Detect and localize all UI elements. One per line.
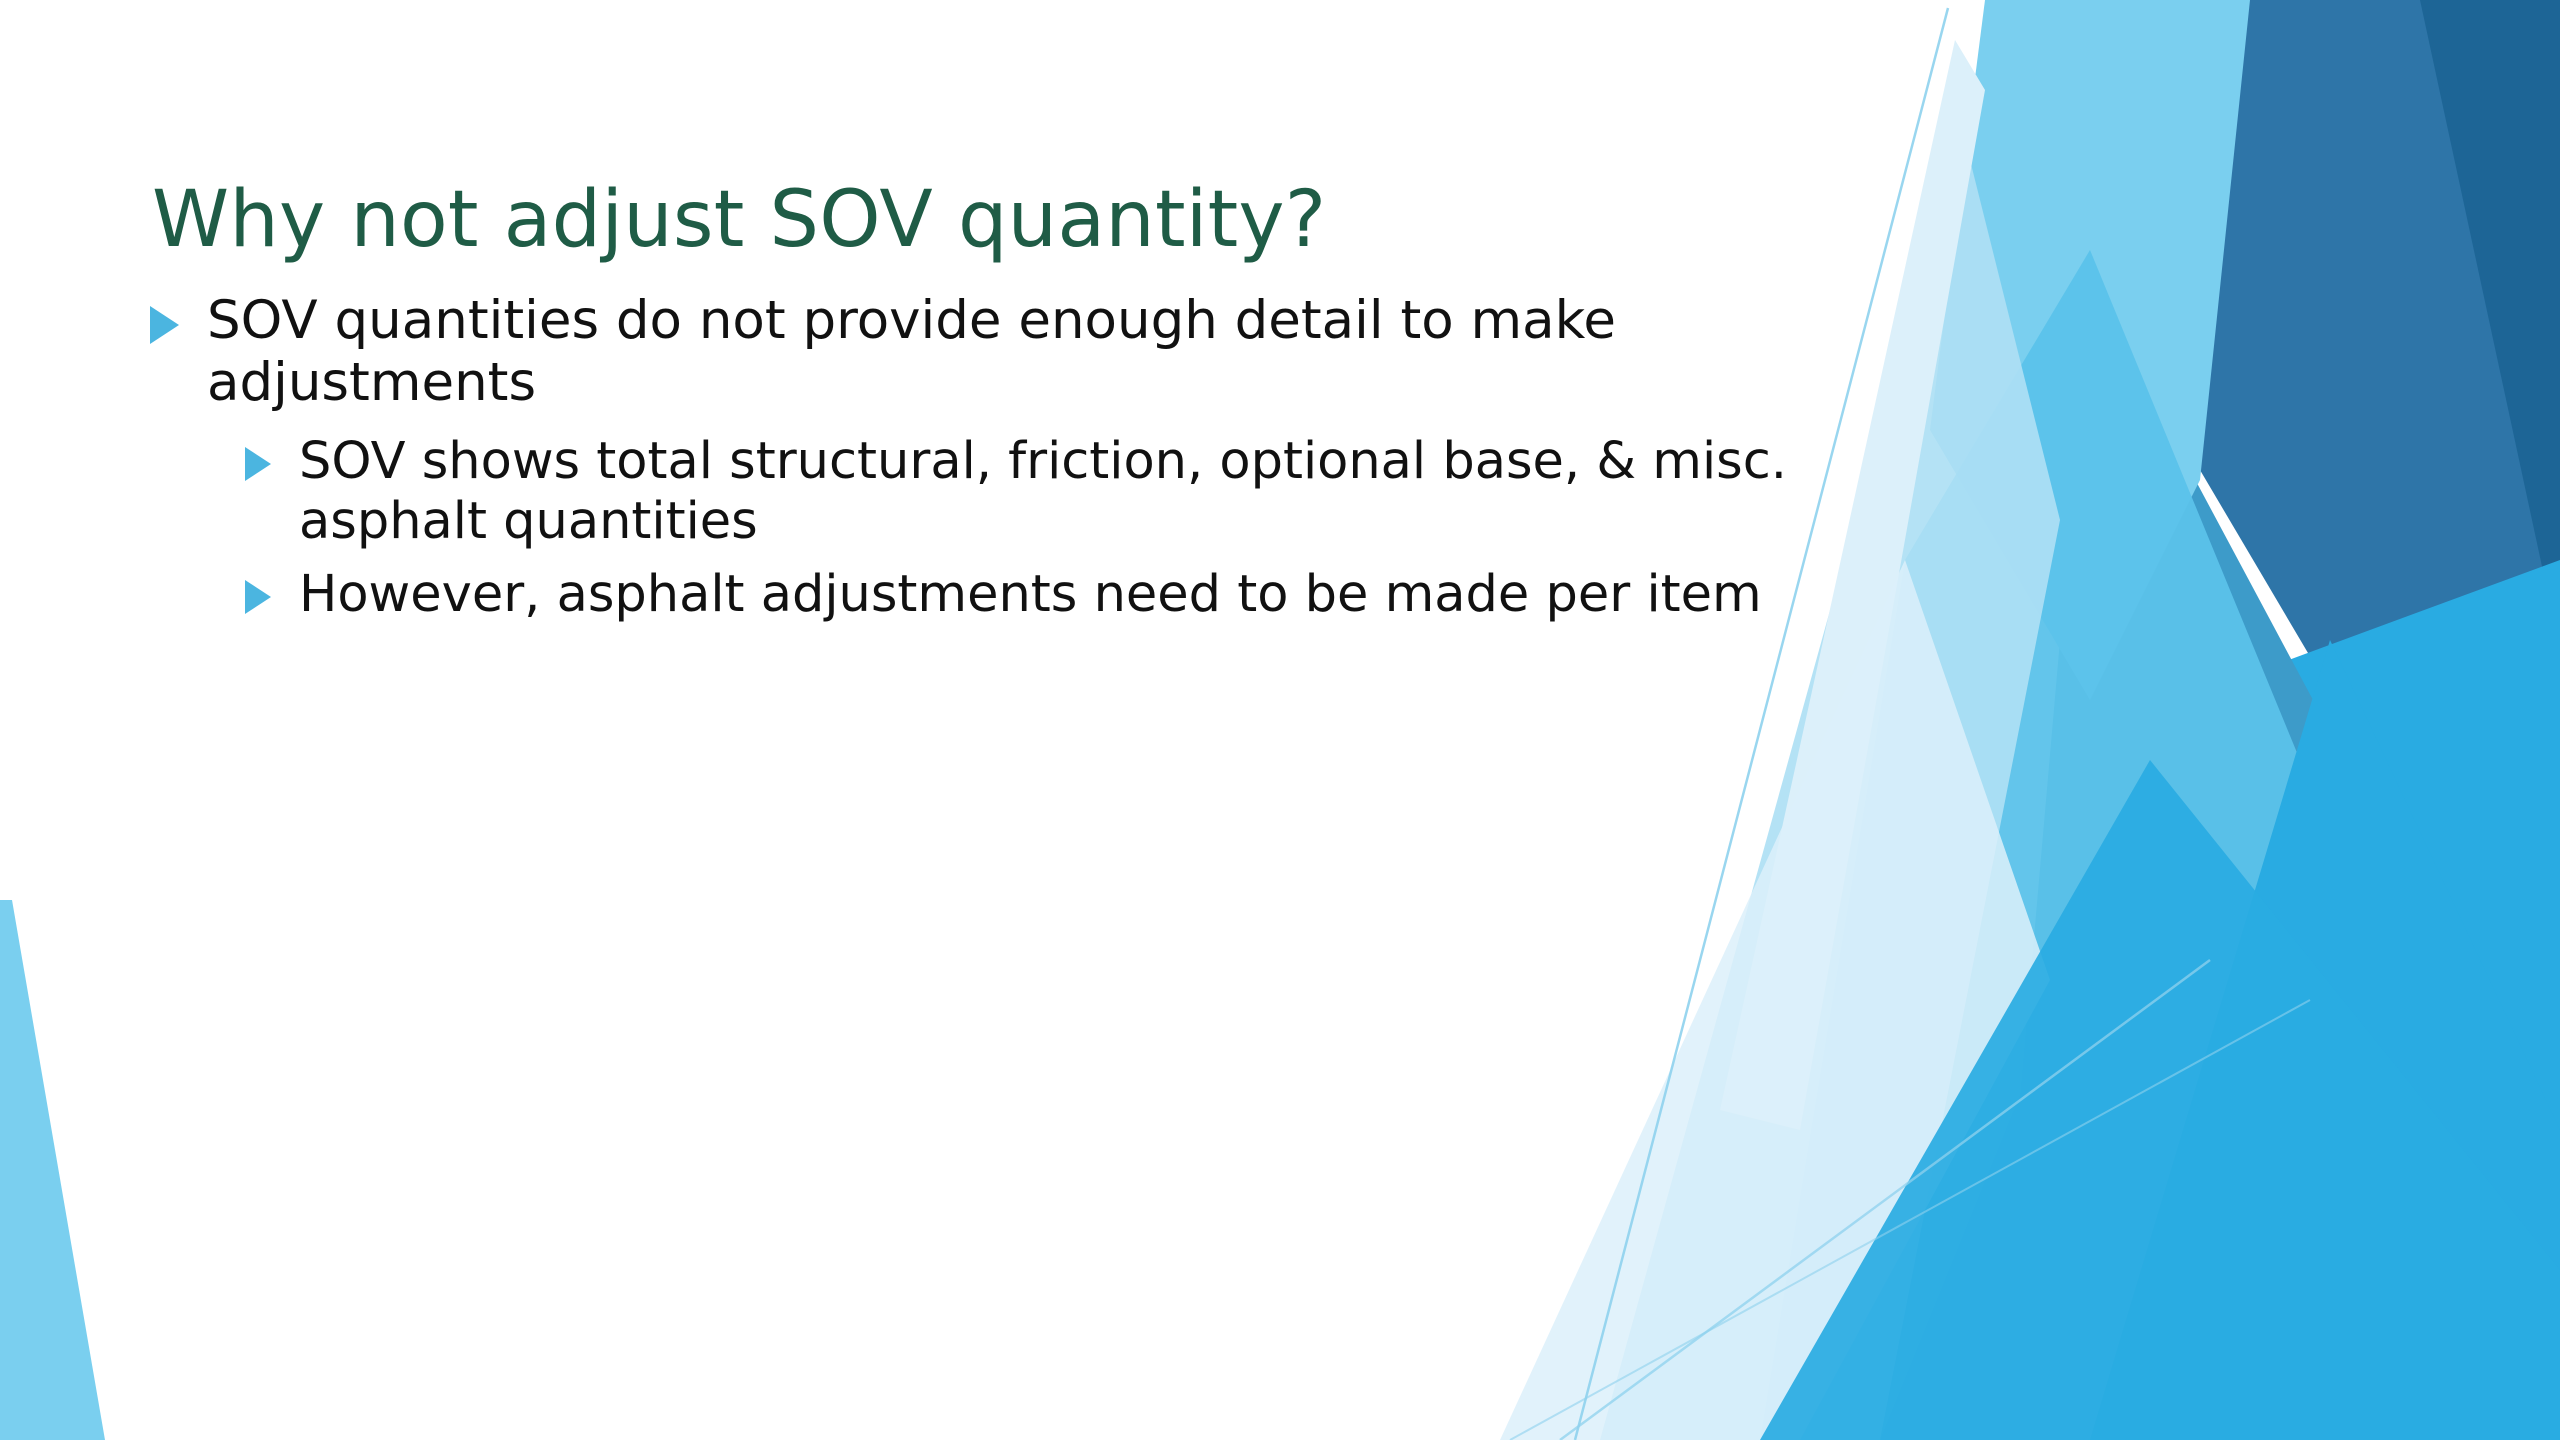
bullet-text: SOV quantities do not provide enough det… bbox=[207, 290, 1637, 414]
slide-content: Why not adjust SOV quantity? SOV quantit… bbox=[0, 0, 1950, 1440]
bullet-text: SOV shows total structural, friction, op… bbox=[299, 432, 1910, 551]
presentation-slide: Why not adjust SOV quantity? SOV quantit… bbox=[0, 0, 2560, 1440]
bullet-item-level2: SOV shows total structural, friction, op… bbox=[245, 432, 1910, 551]
bullet-item-level1: SOV quantities do not provide enough det… bbox=[150, 290, 1910, 414]
slide-title: Why not adjust SOV quantity? bbox=[152, 180, 1326, 262]
triangle-bullet-icon bbox=[245, 447, 271, 481]
triangle-bullet-icon bbox=[150, 306, 179, 344]
slide-body-bullet-list: SOV quantities do not provide enough det… bbox=[150, 290, 1910, 639]
bullet-text: However, asphalt adjustments need to be … bbox=[299, 565, 1762, 625]
bullet-item-level2: However, asphalt adjustments need to be … bbox=[245, 565, 1910, 625]
triangle-bullet-icon bbox=[245, 580, 271, 614]
